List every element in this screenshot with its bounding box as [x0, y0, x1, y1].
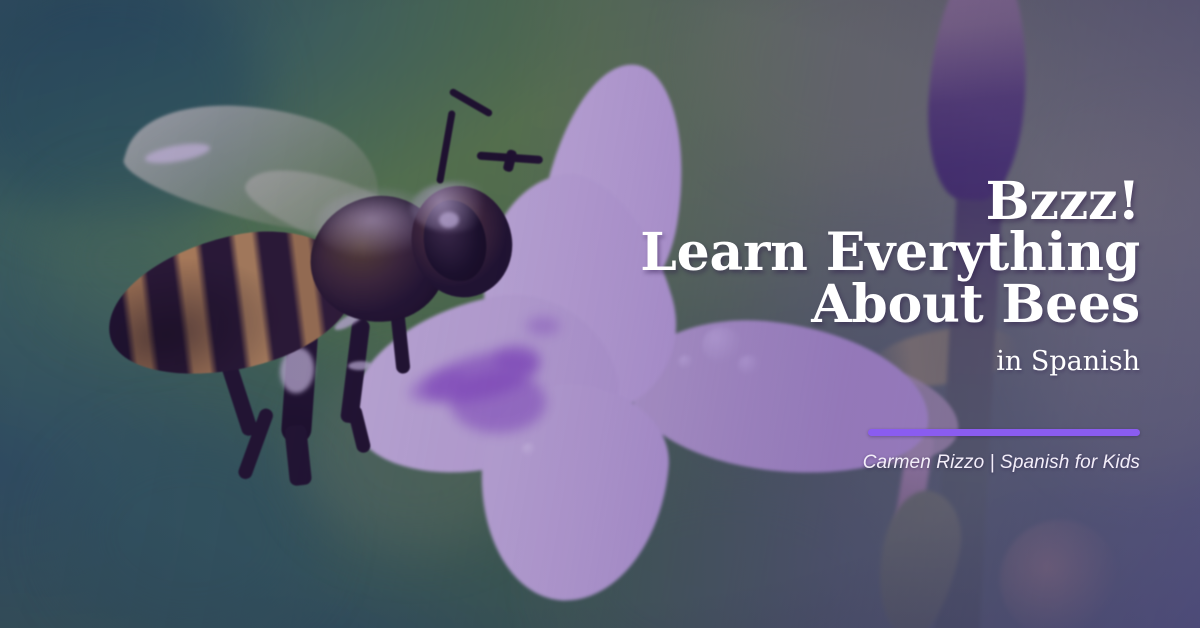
headline: Bzzz! Learn Everything About Bees	[640, 176, 1140, 330]
byline: Carmen Rizzo | Spanish for Kids	[863, 452, 1140, 474]
headline-line-3: About Bees	[640, 279, 1140, 330]
accent-rule	[868, 429, 1140, 436]
text-block: Bzzz! Learn Everything About Bees in Spa…	[440, 0, 1140, 628]
headline-line-1: Bzzz!	[640, 176, 1140, 227]
headline-line-2: Learn Everything	[640, 227, 1140, 278]
subtitle: in Spanish	[996, 348, 1140, 375]
bee-course-promo-banner: Bzzz! Learn Everything About Bees in Spa…	[0, 0, 1200, 628]
